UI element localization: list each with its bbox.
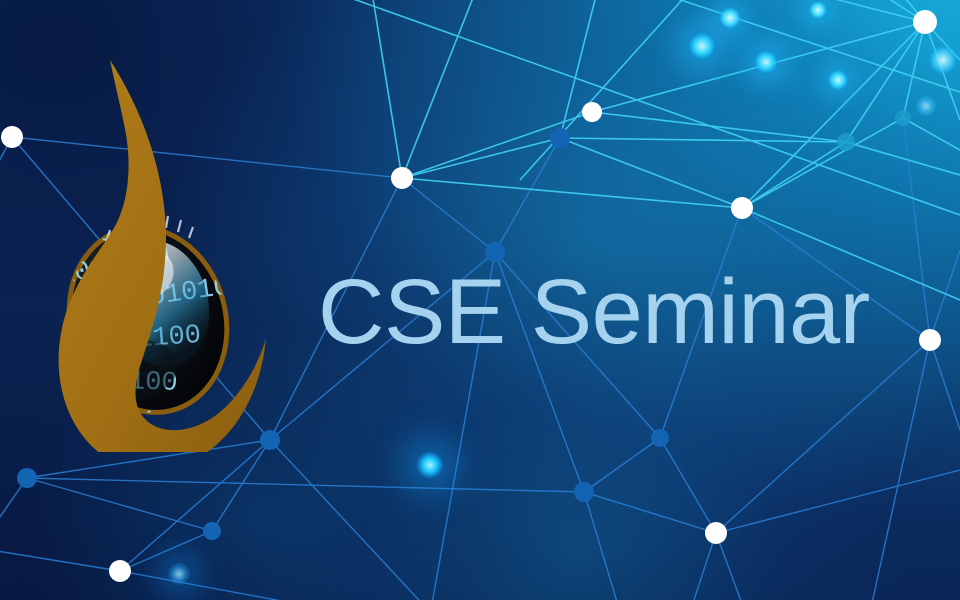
network-node xyxy=(895,110,911,126)
network-node xyxy=(731,197,753,219)
network-node xyxy=(919,329,941,351)
network-node xyxy=(203,522,221,540)
network-node xyxy=(485,242,505,262)
network-node xyxy=(651,429,669,447)
network-node xyxy=(550,128,570,148)
network-node xyxy=(574,482,594,502)
network-node xyxy=(837,133,855,151)
node-teal-group xyxy=(837,110,911,151)
network-node xyxy=(391,167,413,189)
network-node xyxy=(913,10,937,34)
cse-seminar-banner: 1101 1010110 01010101010 011011100 01011… xyxy=(0,0,960,600)
page-title: CSE Seminar xyxy=(318,266,870,358)
network-node xyxy=(17,468,37,488)
cse-flame-binary-logo: 1101 1010110 01010101010 011011100 01011… xyxy=(48,52,318,452)
network-node xyxy=(705,522,727,544)
network-node xyxy=(109,560,131,582)
network-node xyxy=(582,102,602,122)
network-node xyxy=(1,126,23,148)
